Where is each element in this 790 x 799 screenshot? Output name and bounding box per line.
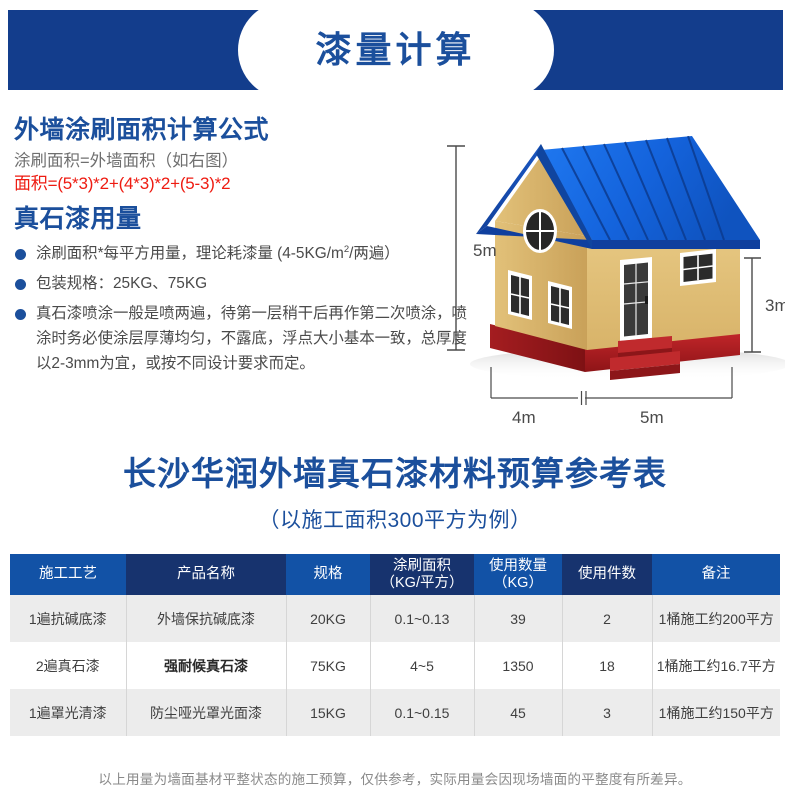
footer-note: 以上用量为墙面基材平整状态的施工预算，仅供参考，实际用量会因现场墙面的平整度有所…	[0, 768, 790, 788]
dimension-right	[744, 258, 761, 352]
bullet-text-main: 涂刷面积*每平方用量，理论耗漆量 (4-5KG/m	[36, 245, 344, 262]
window-front-right	[680, 249, 716, 286]
table-section-subtitle: （以施工面积300平方为例）	[0, 504, 790, 534]
cell-usage-qty: 39	[474, 595, 562, 642]
column-header-line1: 使用数量	[476, 558, 560, 574]
table-row: 1遍罩光清漆 防尘哑光罩光面漆 15KG 0.1~0.15 45 3 1桶施工约…	[10, 689, 780, 736]
column-header-line1: 施工工艺	[12, 566, 124, 582]
budget-table: 施工工艺 产品名称 规格 涂刷面积 （KG/平方） 使用数量 （KG） 使用件数…	[10, 554, 780, 736]
header-banner: 漆量计算	[8, 10, 783, 90]
header-title-pill: 漆量计算	[238, 1, 554, 99]
table-section-title: 长沙华润外墙真石漆材料预算参考表	[0, 455, 790, 493]
cell-remark: 1桶施工约150平方	[652, 689, 780, 736]
usage-bullet-list: 涂刷面积*每平方用量，理论耗漆量 (4-5KG/m2/两遍） 包装规格：25KG…	[14, 242, 474, 377]
formula-heading: 外墙涂刷面积计算公式	[14, 116, 474, 145]
bullet-text-tail: /两遍）	[349, 245, 399, 262]
table-row: 1遍抗碱底漆 外墙保抗碱底漆 20KG 0.1~0.13 39 2 1桶施工约2…	[10, 595, 780, 642]
house-diagram-svg: 5m 3m 4m 5m	[440, 136, 785, 431]
bullet-dot-icon	[15, 279, 26, 290]
door-handle	[645, 296, 648, 304]
dimension-left-label: 5m	[473, 241, 497, 260]
list-item: 涂刷面积*每平方用量，理论耗漆量 (4-5KG/m2/两遍）	[14, 242, 474, 267]
bullet-text-main: 真石漆喷涂一般是喷两遍，待第一层稍干后再作第二次喷涂，喷涂时务必使涂层厚薄均匀，…	[36, 305, 467, 372]
cell-usage-qty: 1350	[474, 642, 562, 689]
column-header-usage-qty: 使用数量 （KG）	[474, 554, 562, 595]
page-title: 漆量计算	[315, 32, 475, 68]
column-header-line1: 使用件数	[564, 566, 650, 582]
column-header-line1: 规格	[288, 566, 368, 582]
cell-spec: 75KG	[286, 642, 370, 689]
roof-eave	[592, 240, 760, 249]
house-illustration: 5m 3m 4m 5m	[440, 136, 785, 431]
entry-steps	[610, 336, 680, 380]
formula-expression: 面积=(5*3)*2+(4*3)*2+(5-3)*2	[14, 173, 474, 196]
bullet-text-main: 包装规格：25KG、75KG	[36, 275, 207, 292]
window-left-1	[508, 270, 532, 320]
dimension-left	[447, 146, 465, 350]
bullet-dot-icon	[15, 249, 26, 260]
cell-process: 2遍真石漆	[10, 642, 126, 689]
cell-spec: 15KG	[286, 689, 370, 736]
window-left-2	[548, 281, 572, 329]
column-header-line2: （KG/平方）	[372, 575, 472, 591]
cell-unit-count: 18	[562, 642, 652, 689]
column-header-spec: 规格	[286, 554, 370, 595]
cell-process: 1遍抗碱底漆	[10, 595, 126, 642]
cell-unit-count: 2	[562, 595, 652, 642]
list-item: 包装规格：25KG、75KG	[14, 272, 474, 297]
column-header-line1: 涂刷面积	[372, 558, 472, 574]
column-header-remark: 备注	[652, 554, 780, 595]
cell-unit-count: 3	[562, 689, 652, 736]
cell-product-name: 强耐候真石漆	[126, 642, 286, 689]
front-door	[620, 257, 652, 341]
cell-coating-area: 0.1~0.13	[370, 595, 474, 642]
cell-process: 1遍罩光清漆	[10, 689, 126, 736]
column-header-line1: 产品名称	[128, 566, 284, 582]
column-header-coating-area: 涂刷面积 （KG/平方）	[370, 554, 474, 595]
cell-coating-area: 0.1~0.15	[370, 689, 474, 736]
usage-heading: 真石漆用量	[14, 205, 474, 234]
dimension-right-label: 3m	[765, 296, 785, 315]
list-item: 真石漆喷涂一般是喷两遍，待第一层稍干后再作第二次喷涂，喷涂时务必使涂层厚薄均匀，…	[14, 302, 474, 377]
cell-spec: 20KG	[286, 595, 370, 642]
column-header-product-name: 产品名称	[126, 554, 286, 595]
formula-section: 外墙涂刷面积计算公式 涂刷面积=外墙面积（如右图） 面积=(5*3)*2+(4*…	[14, 116, 474, 382]
cell-coating-area: 4~5	[370, 642, 474, 689]
column-header-line1: 备注	[654, 566, 778, 582]
cell-remark: 1桶施工约16.7平方	[652, 642, 780, 689]
formula-subline: 涂刷面积=外墙面积（如右图）	[14, 150, 474, 172]
bullet-dot-icon	[15, 309, 26, 320]
column-header-line2: （KG）	[476, 575, 560, 591]
table-header-row: 施工工艺 产品名称 规格 涂刷面积 （KG/平方） 使用数量 （KG） 使用件数…	[10, 554, 780, 595]
cell-usage-qty: 45	[474, 689, 562, 736]
dimension-bottom-left-label: 4m	[512, 408, 536, 427]
cell-product-name: 外墙保抗碱底漆	[126, 595, 286, 642]
table-row: 2遍真石漆 强耐候真石漆 75KG 4~5 1350 18 1桶施工约16.7平…	[10, 642, 780, 689]
cell-product-name: 防尘哑光罩光面漆	[126, 689, 286, 736]
dimension-bottom-right-label: 5m	[640, 408, 664, 427]
column-header-process: 施工工艺	[10, 554, 126, 595]
column-header-unit-count: 使用件数	[562, 554, 652, 595]
cell-remark: 1桶施工约200平方	[652, 595, 780, 642]
